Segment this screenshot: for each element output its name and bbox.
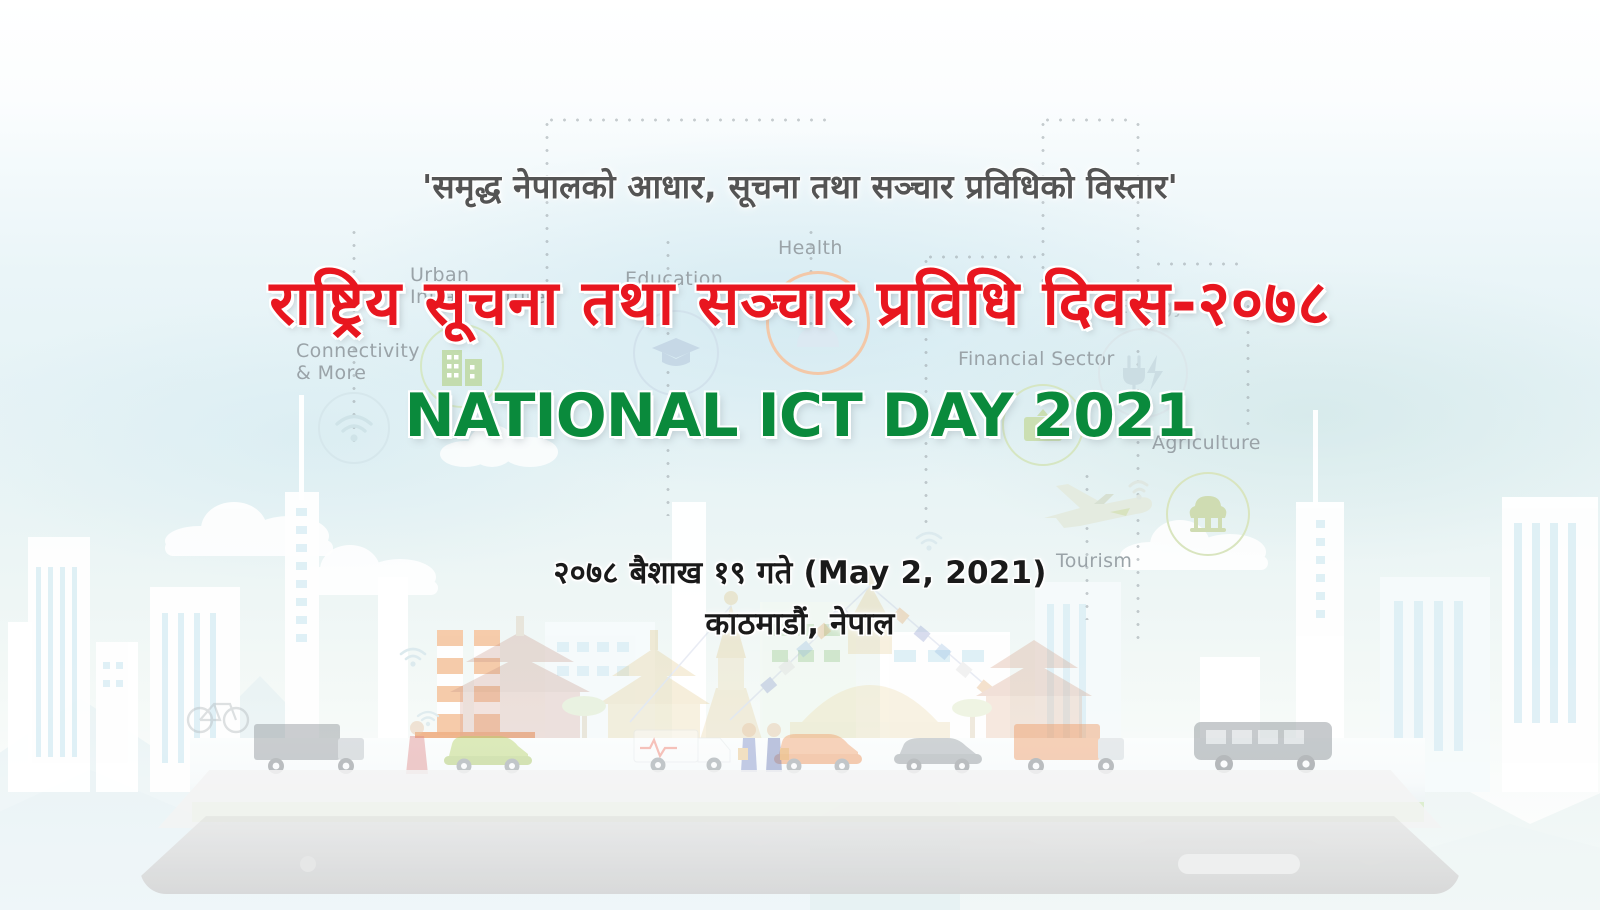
vehicle-truck-grey <box>250 718 370 776</box>
poster-title-english: NATIONAL ICT DAY 2021 <box>0 386 1600 446</box>
vehicle-ambulance <box>628 718 738 774</box>
tablet-home-bar <box>1178 854 1300 874</box>
poster-tagline: 'समृद्ध नेपालको आधार, सूचना तथा सञ्चार प… <box>0 163 1600 208</box>
airplane-icon <box>1034 474 1164 545</box>
building-tower-2 <box>96 642 138 792</box>
vehicle-bus <box>1190 716 1340 776</box>
tablet-camera <box>300 856 316 872</box>
poster-place: काठमाडौं, नेपाल <box>0 602 1600 644</box>
vehicle-car-green <box>440 726 536 774</box>
bicycle-icon <box>186 694 252 734</box>
building-right-2 <box>1502 497 1598 792</box>
poster-title-nepali: राष्ट्रिय सूचना तथा सञ्चार प्रविधि दिवस-… <box>0 272 1600 334</box>
wifi-small-icon-3 <box>410 700 446 736</box>
poster-date: २०७८ बैशाख १९ गते (May 2, 2021) <box>0 551 1600 593</box>
building-tower-1b <box>8 622 32 792</box>
sector-label-connectivity: Connectivity& More <box>296 340 420 385</box>
tablet-device <box>140 770 1460 910</box>
poster-canvas: Connectivity& More UrbanInfrastructure <box>0 0 1600 910</box>
vehicle-truck-orange <box>1010 718 1130 776</box>
sector-label-health: Health <box>778 237 843 259</box>
vehicle-car-grey <box>890 728 986 774</box>
